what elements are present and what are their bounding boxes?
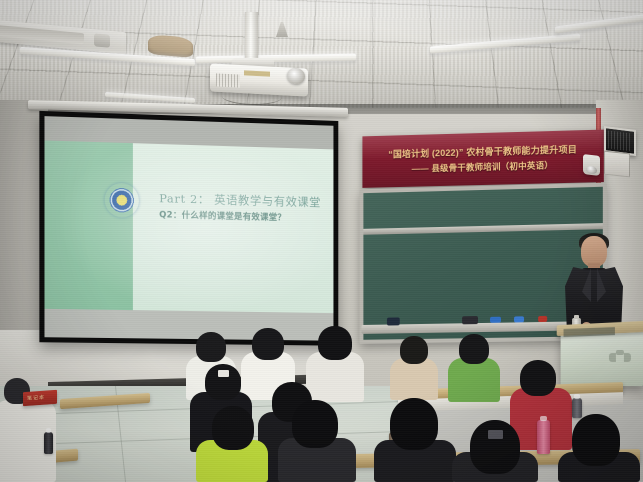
chalk-box <box>514 316 524 322</box>
banner-line-2: —— 县级骨干教师培训（初中英语） <box>412 159 553 175</box>
audience-head <box>292 400 338 448</box>
chalk-box <box>538 316 547 322</box>
audience-head <box>572 414 620 466</box>
red-notebook: 笔记本 <box>23 390 57 406</box>
audience-head <box>318 326 352 360</box>
chalkboard-slider-rail <box>363 223 602 235</box>
presentation-slide: Part 2： 英语教学与有效课堂 Q2：什么样的课堂是有效课堂？ <box>44 140 333 323</box>
projector-lens-icon <box>287 68 305 85</box>
audience-body <box>448 358 500 402</box>
audience-head <box>470 420 520 474</box>
screen-bottom-margin <box>44 309 333 341</box>
slide-projector-glow <box>44 140 333 323</box>
wall-control-plate[interactable] <box>604 151 630 178</box>
hair-clip <box>488 430 503 439</box>
projection-screen: Part 2： 英语教学与有效课堂 Q2：什么样的课堂是有效课堂？ <box>39 111 338 346</box>
security-camera-icon <box>583 154 600 176</box>
podium-logo-icon <box>609 350 631 364</box>
chalk-box <box>490 317 501 323</box>
air-vent-knob <box>94 33 110 48</box>
audience-head <box>252 328 284 360</box>
event-banner: “国培计划 (2022)” 农村骨干教师能力提升项目 —— 县级骨干教师培训（初… <box>362 130 603 188</box>
audience-head <box>520 360 556 396</box>
speaker-grill <box>608 131 632 152</box>
water-bottle <box>572 398 582 418</box>
audience-head <box>400 336 428 364</box>
podium-recess <box>564 327 615 337</box>
audience-head <box>459 334 489 364</box>
audience-body <box>390 358 438 400</box>
audience-head <box>196 332 226 362</box>
classroom-photo-scene: Part 2： 英语教学与有效课堂 Q2：什么样的课堂是有效课堂？ “国培计划 … <box>0 0 643 482</box>
water-bottle <box>537 420 550 454</box>
audience-head <box>212 406 254 450</box>
projector-mount-pole <box>245 12 258 64</box>
lecture-podium <box>561 330 643 386</box>
audience-head <box>390 398 438 450</box>
screen-surface: Part 2： 英语教学与有效课堂 Q2：什么样的课堂是有效课堂？ <box>44 116 333 341</box>
hair-clip <box>218 370 229 377</box>
chalkboard-eraser <box>462 316 478 324</box>
camera-dome-lens <box>586 165 597 174</box>
banner-line-1: “国培计划 (2022)” 农村骨干教师能力提升项目 <box>388 142 577 160</box>
water-bottle <box>44 432 53 454</box>
air-vent-slot <box>0 25 84 44</box>
notebook-text: 笔记本 <box>27 394 45 402</box>
chalkboard-eraser <box>387 317 400 325</box>
